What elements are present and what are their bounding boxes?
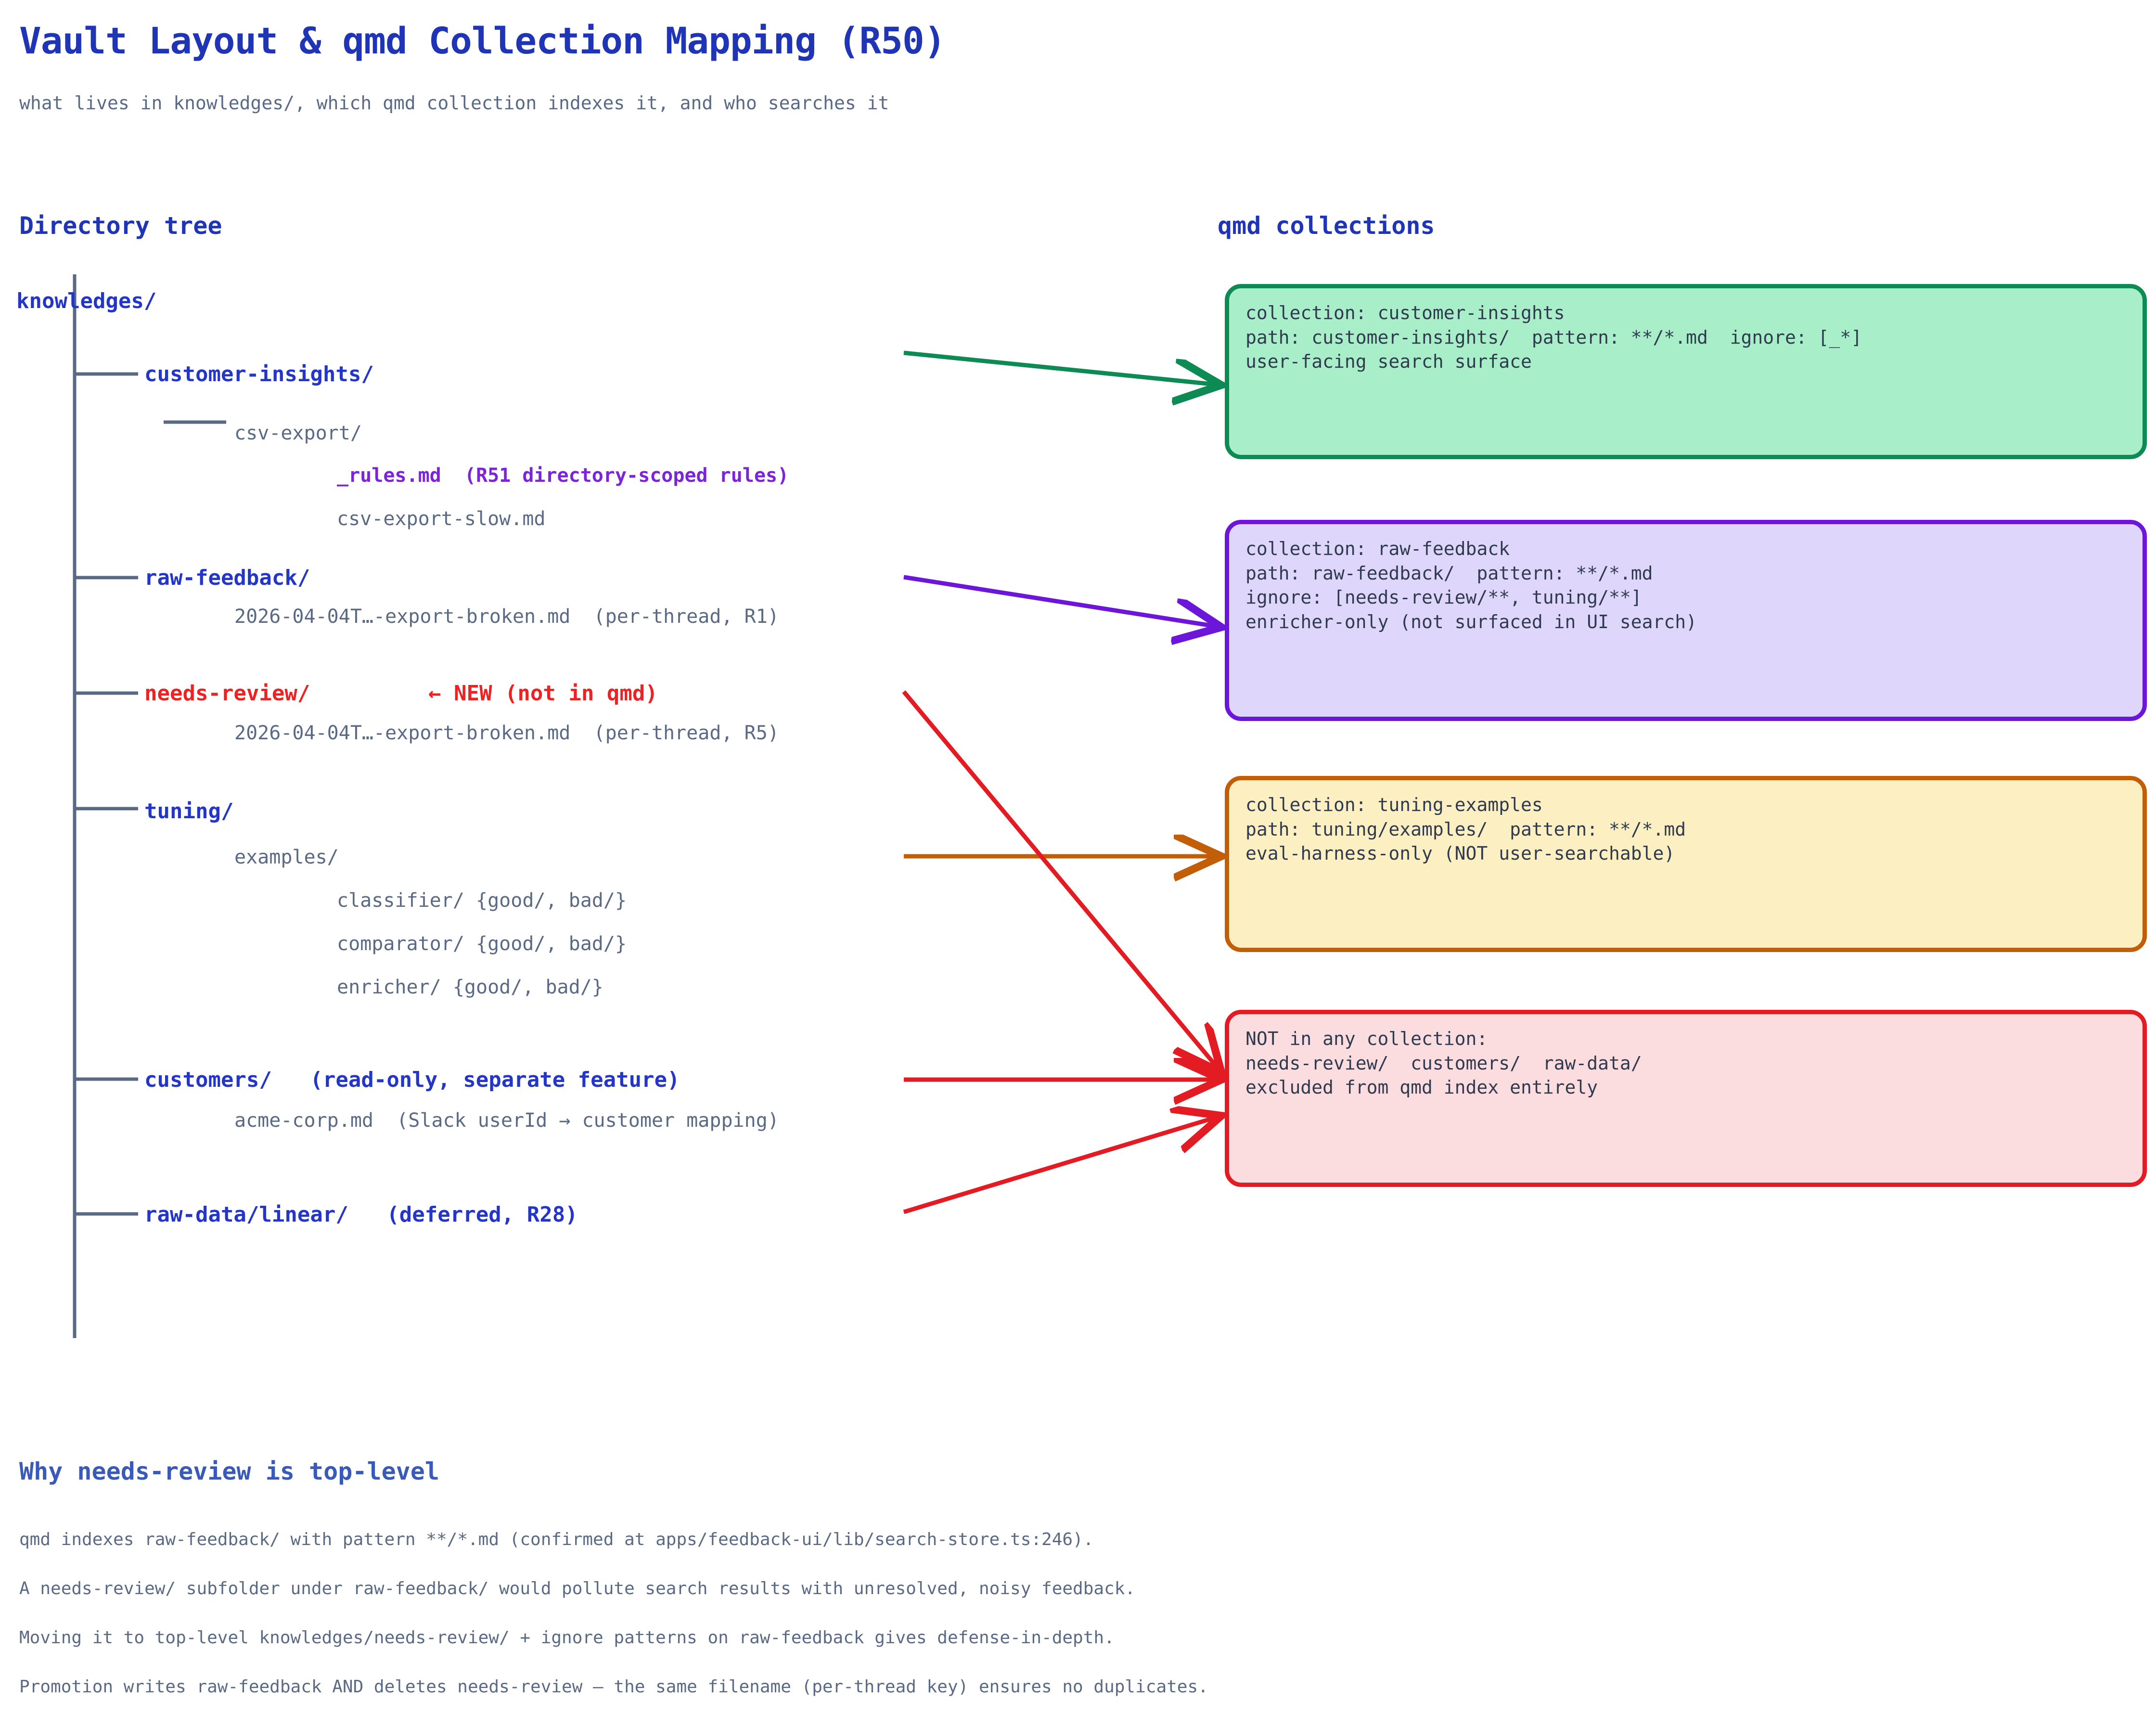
tree-node[interactable]: 2026-04-04T…-export-broken.md (per-threa…	[234, 606, 779, 628]
tree-node[interactable]: needs-review/	[144, 681, 310, 706]
tree-node[interactable]: examples/	[234, 846, 339, 868]
why-line: A needs-review/ subfolder under raw-feed…	[19, 1579, 1135, 1598]
collection-line: enricher-only (not surfaced in UI search…	[1245, 610, 2126, 634]
why-line: Promotion writes raw-feedback AND delete…	[19, 1677, 1208, 1697]
collection-line: collection: customer-insights	[1245, 301, 2126, 325]
tree-node[interactable]: enricher/ {good/, bad/}	[337, 976, 603, 998]
collection-line: eval-harness-only (NOT user-searchable)	[1245, 841, 2126, 866]
tree-node[interactable]: acme-corp.md (Slack userId → customer ma…	[234, 1109, 779, 1132]
collection-line: path: tuning/examples/ pattern: **/*.md	[1245, 817, 2126, 842]
tree-node[interactable]: 2026-04-04T…-export-broken.md (per-threa…	[234, 722, 779, 744]
collection-line: NOT in any collection:	[1245, 1027, 2126, 1051]
collection-line: collection: raw-feedback	[1245, 537, 2126, 561]
collection-box-raw-feedback[interactable]: collection: raw-feedback path: raw-feedb…	[1225, 520, 2147, 721]
tree-node[interactable]: comparator/ {good/, bad/}	[337, 933, 627, 955]
why-line: qmd indexes raw-feedback/ with pattern *…	[19, 1530, 1093, 1549]
collection-line: ignore: [needs-review/**, tuning/**]	[1245, 585, 2126, 610]
tree-node[interactable]: _rules.md (R51 directory-scoped rules)	[337, 464, 789, 487]
tree-node-annotation: ← NEW (not in qmd)	[428, 681, 658, 706]
collection-line: collection: tuning-examples	[1245, 793, 2126, 817]
collection-box-not-in-any-collection[interactable]: NOT in any collection: needs-review/ cus…	[1225, 1010, 2147, 1187]
collection-line: user-facing search surface	[1245, 349, 2126, 374]
tree-node[interactable]: raw-feedback/	[144, 566, 310, 590]
tree-node[interactable]: csv-export/	[234, 422, 362, 444]
collection-line: path: raw-feedback/ pattern: **/*.md	[1245, 561, 2126, 586]
diagram-canvas: Vault Layout & qmd Collection Mapping (R…	[0, 0, 2156, 1727]
tree-node[interactable]: customers/ (read-only, separate feature)	[144, 1068, 680, 1092]
collection-box-tuning-examples[interactable]: collection: tuning-examples path: tuning…	[1225, 776, 2147, 952]
tree-node[interactable]: raw-data/linear/ (deferred, R28)	[144, 1202, 578, 1227]
collection-line: path: customer-insights/ pattern: **/*.m…	[1245, 325, 2126, 350]
tree-node[interactable]: classifier/ {good/, bad/}	[337, 889, 627, 912]
tree-node[interactable]: csv-export-slow.md	[337, 508, 545, 530]
tree-node[interactable]: customer-insights/	[144, 362, 374, 387]
tree-root-knowledges[interactable]: knowledges/	[16, 289, 156, 313]
why-section-heading: Why needs-review is top-level	[19, 1457, 439, 1485]
tree-node[interactable]: tuning/	[144, 799, 233, 824]
why-line: Moving it to top-level knowledges/needs-…	[19, 1628, 1115, 1648]
collection-line: excluded from qmd index entirely	[1245, 1075, 2126, 1100]
collection-box-customer-insights[interactable]: collection: customer-insights path: cust…	[1225, 284, 2147, 459]
collection-line: needs-review/ customers/ raw-data/	[1245, 1051, 2126, 1076]
